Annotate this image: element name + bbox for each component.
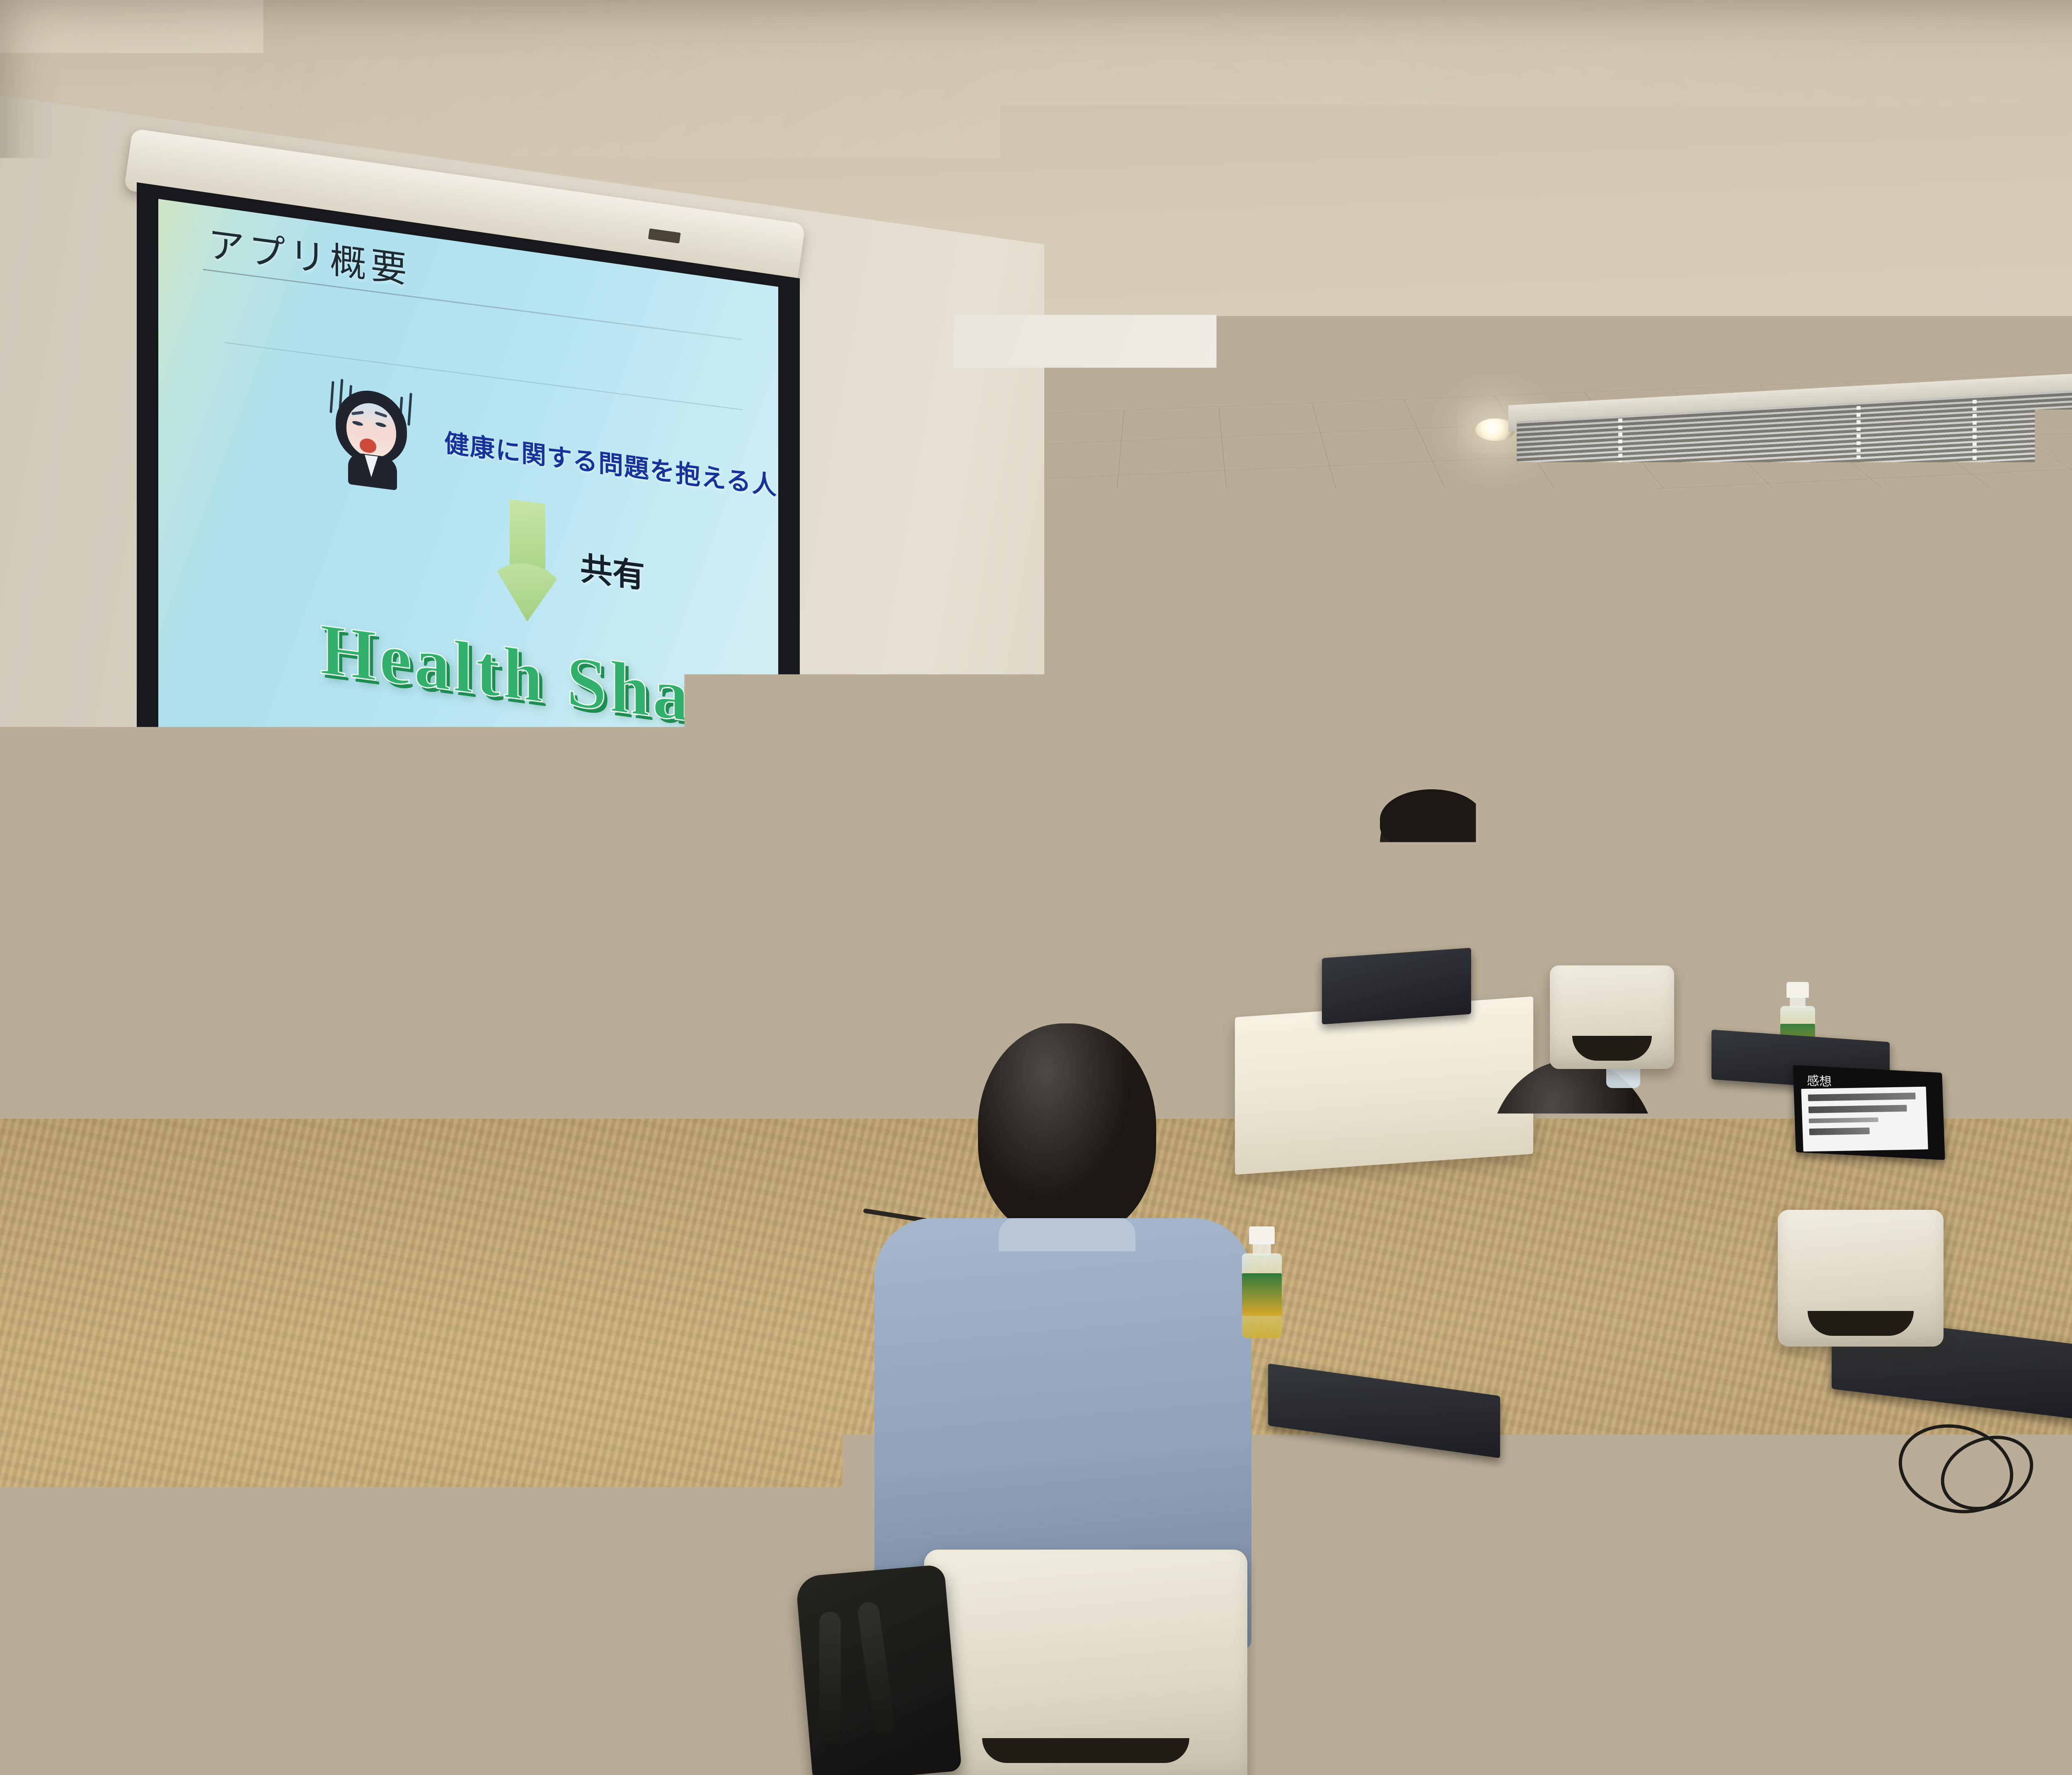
backpack-strap [857,1601,897,1739]
presenter-1-hair [1214,756,1322,818]
chair[interactable] [1417,1558,1740,1775]
audience-hair [1641,854,1720,900]
laptop-display[interactable]: 感想 [1793,1065,1945,1160]
projected-slide: アプリ概要 [158,199,778,870]
ceiling-downlight [1778,323,1823,349]
slide-subtitle: 健康に関する問題を抱える人々 [444,423,778,505]
slide-brand-title: Health Share [320,607,760,748]
shirt-collar [999,1218,1135,1251]
conference-room-photo: アプリ概要 [0,0,2072,1775]
audience-hair [1873,862,1973,922]
eyeglasses-icon [1625,952,1658,964]
slide-arrow-label: 共有 [580,542,645,597]
backpack-strap [819,1612,841,1748]
screen-brand-label [648,228,681,243]
ceiling-downlight [445,64,485,88]
display-heading: 感想 [1806,1070,1832,1090]
ceiling-downlight [1243,178,1295,210]
presenter-2-arm [1321,977,1370,1065]
chair[interactable] [924,1550,1247,1775]
audience-head [1488,1061,1658,1268]
audience-head [978,1023,1156,1239]
chair[interactable] [1550,965,1674,1069]
distressed-person-illustration [328,376,415,491]
green-tea-bottle[interactable] [1239,1226,1285,1338]
ceiling-downlight [1807,52,1865,86]
smoke-detector-icon [1173,106,1222,130]
chair[interactable] [1778,1210,1944,1347]
down-arrow-icon [490,497,564,626]
water-bottle[interactable] [1467,1268,1516,1384]
slide-divider [225,342,743,410]
display-body-text [1801,1087,1928,1152]
projection-screen-assembly: アプリ概要 [137,137,866,990]
green-tea-bottle[interactable] [1939,1193,1982,1300]
backpack[interactable] [795,1564,962,1775]
slide-title-underline [203,269,742,340]
presenter-2-hair [1380,789,1484,850]
